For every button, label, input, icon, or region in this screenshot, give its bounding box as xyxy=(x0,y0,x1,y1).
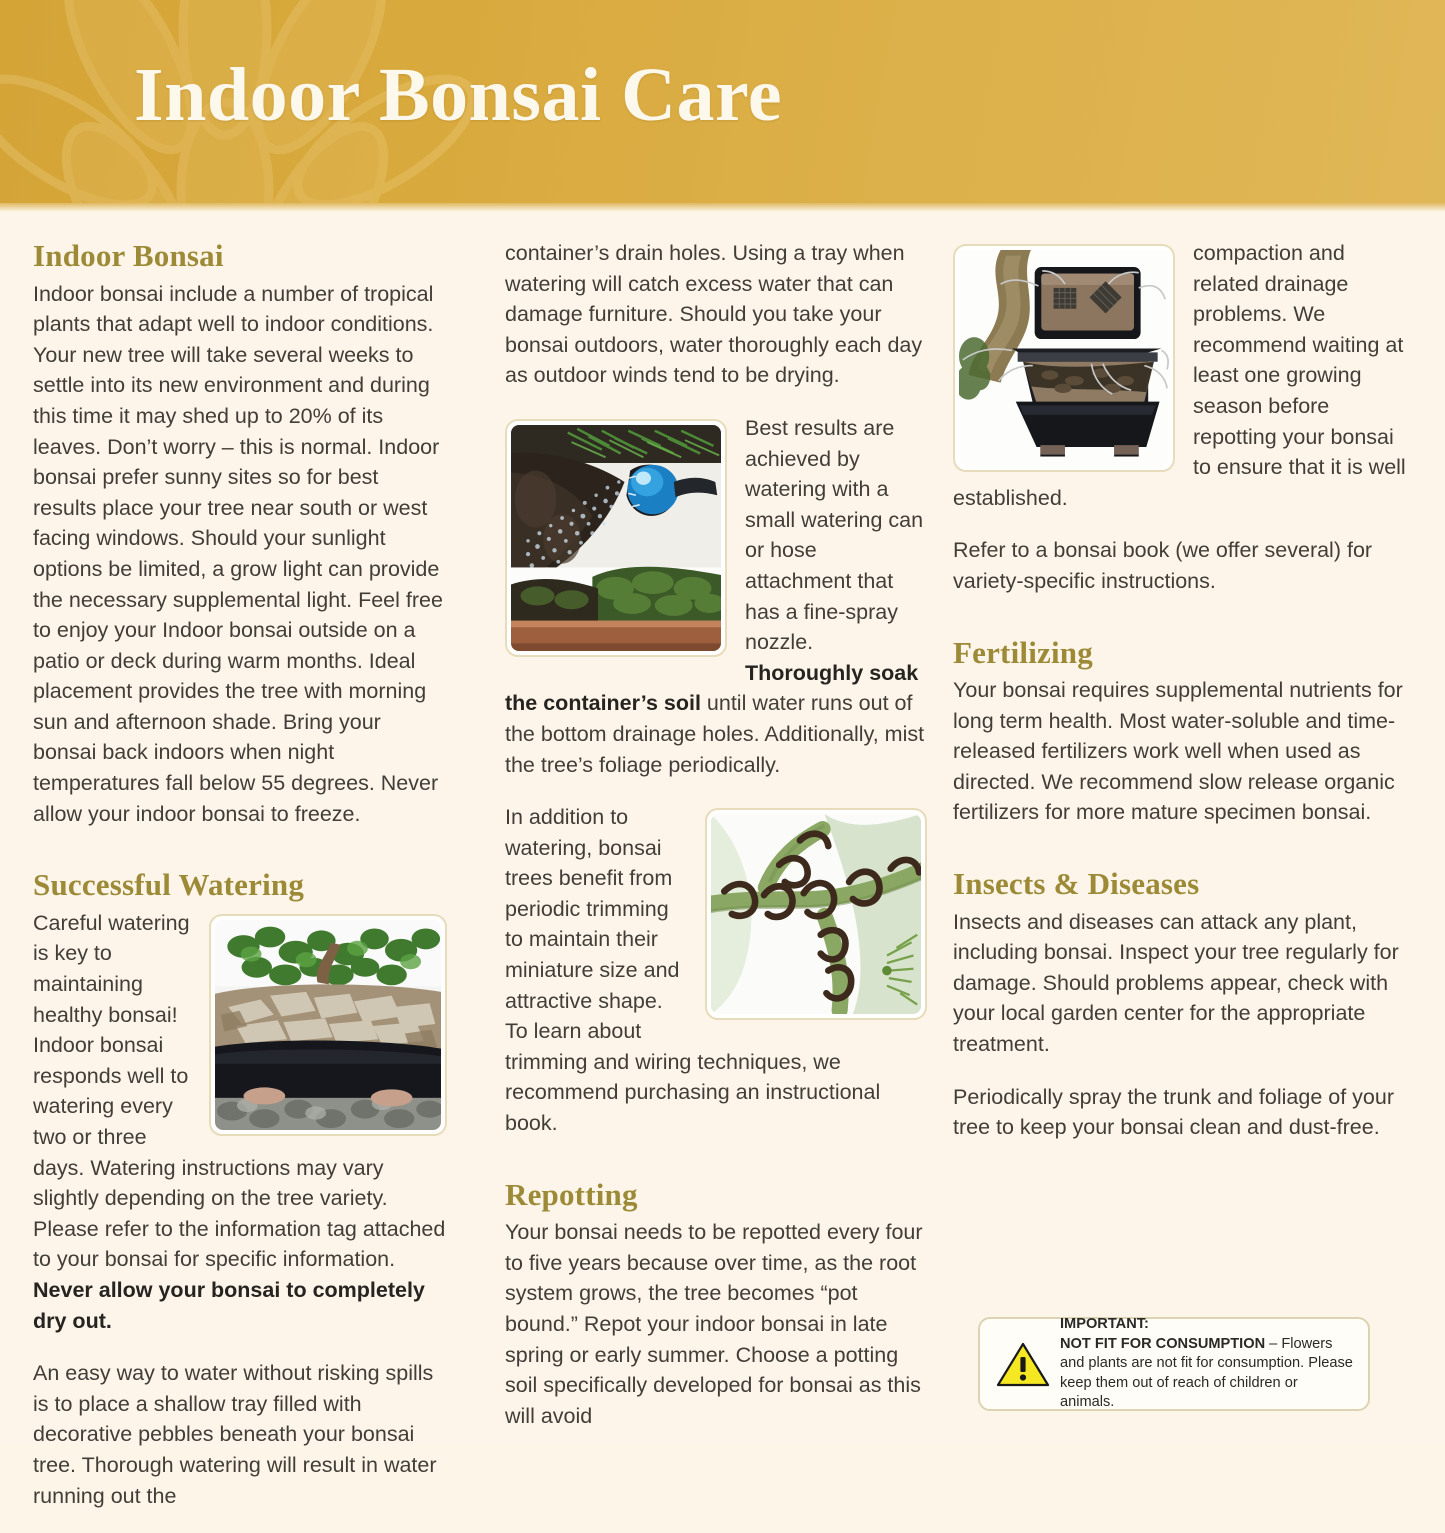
section-heading-fertilizing: Fertilizing xyxy=(953,635,1410,672)
page-header: Indoor Bonsai Care xyxy=(0,0,1445,212)
fertilizing-paragraph: Your bonsai requires supplemental nutrie… xyxy=(953,675,1410,828)
section-heading-insects-diseases: Insects & Diseases xyxy=(953,866,1410,903)
refer-to-book-paragraph: Refer to a bonsai book (we offer several… xyxy=(953,535,1410,596)
successful-watering-paragraph-b: An easy way to water without risking spi… xyxy=(33,1358,447,1511)
insects-paragraph-b: Periodically spray the trunk and foliage… xyxy=(953,1082,1410,1143)
header-fade-divider xyxy=(0,203,1445,212)
bonsai-pot-with-drainage-screens-photo xyxy=(953,244,1175,472)
important-warning-box: IMPORTANT: NOT FIT FOR CONSUMPTION – Flo… xyxy=(978,1317,1370,1411)
section-heading-indoor-bonsai: Indoor Bonsai xyxy=(33,238,447,275)
section-heading-repotting: Repotting xyxy=(505,1177,927,1214)
insects-paragraph-a: Insects and diseases can attack any plan… xyxy=(953,907,1410,1060)
repotting-paragraph: Your bonsai needs to be repotted every f… xyxy=(505,1217,927,1431)
watering-continued-paragraph: container’s drain holes. Using a tray wh… xyxy=(505,238,927,391)
hose-nozzle-watering-bonsai-photo xyxy=(505,419,727,657)
warning-line1: IMPORTANT: xyxy=(1060,1316,1149,1332)
warning-line2-bold: NOT FIT FOR CONSUMPTION xyxy=(1060,1336,1265,1352)
wired-bonsai-branches-photo xyxy=(705,808,927,1020)
page-title: Indoor Bonsai Care xyxy=(134,52,782,139)
column-1: Indoor Bonsai Indoor bonsai include a nu… xyxy=(0,212,475,1533)
page-body: Indoor Bonsai Indoor bonsai include a nu… xyxy=(0,212,1445,1445)
best-results-text-a: Best results are achieved by watering wi… xyxy=(745,416,923,654)
column-2: container’s drain holes. Using a tray wh… xyxy=(475,212,945,1533)
jade-bonsai-in-pot-photo xyxy=(209,914,447,1136)
warning-text: IMPORTANT: NOT FIT FOR CONSUMPTION – Flo… xyxy=(1060,1315,1354,1412)
section-heading-successful-watering: Successful Watering xyxy=(33,867,447,904)
indoor-bonsai-paragraph: Indoor bonsai include a number of tropic… xyxy=(33,279,447,830)
watering-text-bold: Never allow your bonsai to completely dr… xyxy=(33,1278,425,1333)
warning-triangle-icon xyxy=(996,1340,1050,1388)
